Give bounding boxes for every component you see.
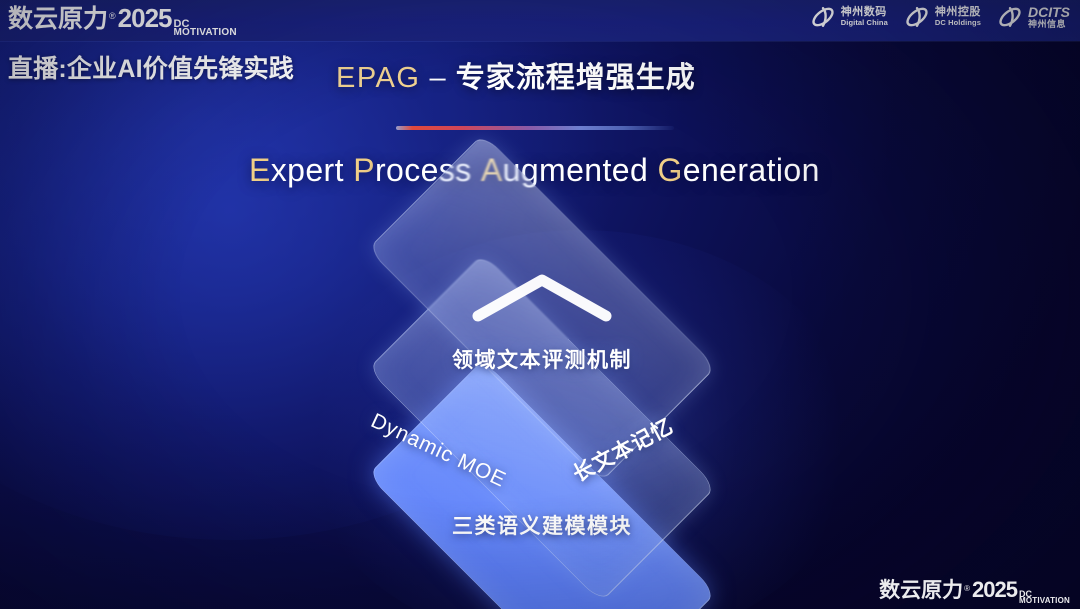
logo-en-label: DCITS [1028, 5, 1070, 20]
logo-en-label: DC Holdings [935, 19, 981, 27]
subtitle-rest-expert: xpert [271, 152, 344, 188]
swirl-icon [810, 4, 836, 30]
subtitle-rest-generation: eneration [683, 152, 820, 188]
logo-dc-holdings-text: 神州控股 DC Holdings [935, 7, 981, 26]
watermark-name-cn: 数云原力 [879, 580, 963, 601]
brand-year: 2025 [118, 5, 172, 31]
watermark-year: 2025 [972, 579, 1017, 601]
layer-stack-diagram: 领域文本评测机制 Dynamic MOE 长文本记忆 三类语义建模模块 [312, 222, 772, 562]
page-title-chinese: 专家流程增强生成 [456, 62, 696, 94]
logo-dc-holdings: 神州控股 DC Holdings [904, 4, 981, 30]
logo-shenzhou-digital: 神州数码 Digital China [810, 4, 888, 30]
diagram-layer-top-label: 领域文本评测机制 [452, 344, 632, 374]
header-bar: 数云原力 ® 2025 DC MOTIVATION 神州数码 Digital C… [0, 0, 1080, 41]
brand-name-cn: 数云原力 [8, 7, 108, 32]
title-divider [396, 126, 674, 130]
logo-en-label: Digital China [841, 19, 888, 27]
page-title: EPAG – 专家流程增强生成 [336, 54, 696, 96]
logo-dcits-text: DCITS 神州信息 [1028, 5, 1070, 29]
logo-shenzhou-digital-text: 神州数码 Digital China [841, 7, 888, 26]
watermark-motivation-label: MOTIVATION [1019, 597, 1070, 605]
partner-logos: 神州数码 Digital China 神州控股 DC Holdings [810, 4, 1070, 30]
page-title-dash: – [420, 62, 455, 94]
registered-mark-icon: ® [964, 584, 970, 593]
logo-dcits: DCITS 神州信息 [997, 4, 1070, 30]
brand-logo: 数云原力 ® 2025 DC MOTIVATION [8, 5, 237, 38]
logo-cn-label: 神州信息 [1028, 20, 1070, 29]
brand-dc-motivation: DC MOTIVATION [174, 19, 237, 38]
swirl-icon [997, 4, 1023, 30]
diagram-layer-bottom-label: 三类语义建模模块 [452, 510, 632, 540]
slide-canvas: 数云原力 ® 2025 DC MOTIVATION 神州数码 Digital C… [0, 0, 1080, 609]
page-title-acronym: EPAG [336, 62, 420, 94]
watermark-dc-motivation: DC MOTIVATION [1019, 590, 1070, 605]
subtitle-cap-p: P [353, 152, 375, 188]
registered-mark-icon: ® [109, 11, 116, 21]
subtitle-cap-e: E [249, 152, 271, 188]
footer-watermark-logo: 数云原力 ® 2025 DC MOTIVATION [879, 579, 1070, 605]
chevron-up-icon [468, 270, 616, 322]
subtitle-cap-g: G [657, 152, 682, 188]
swirl-icon [904, 4, 930, 30]
page-subtitle: Expert Process Augmented Generation [249, 152, 820, 189]
live-stream-title: 直播:企业AI价值先锋实践 [8, 49, 294, 85]
brand-motivation-label: MOTIVATION [174, 28, 237, 38]
